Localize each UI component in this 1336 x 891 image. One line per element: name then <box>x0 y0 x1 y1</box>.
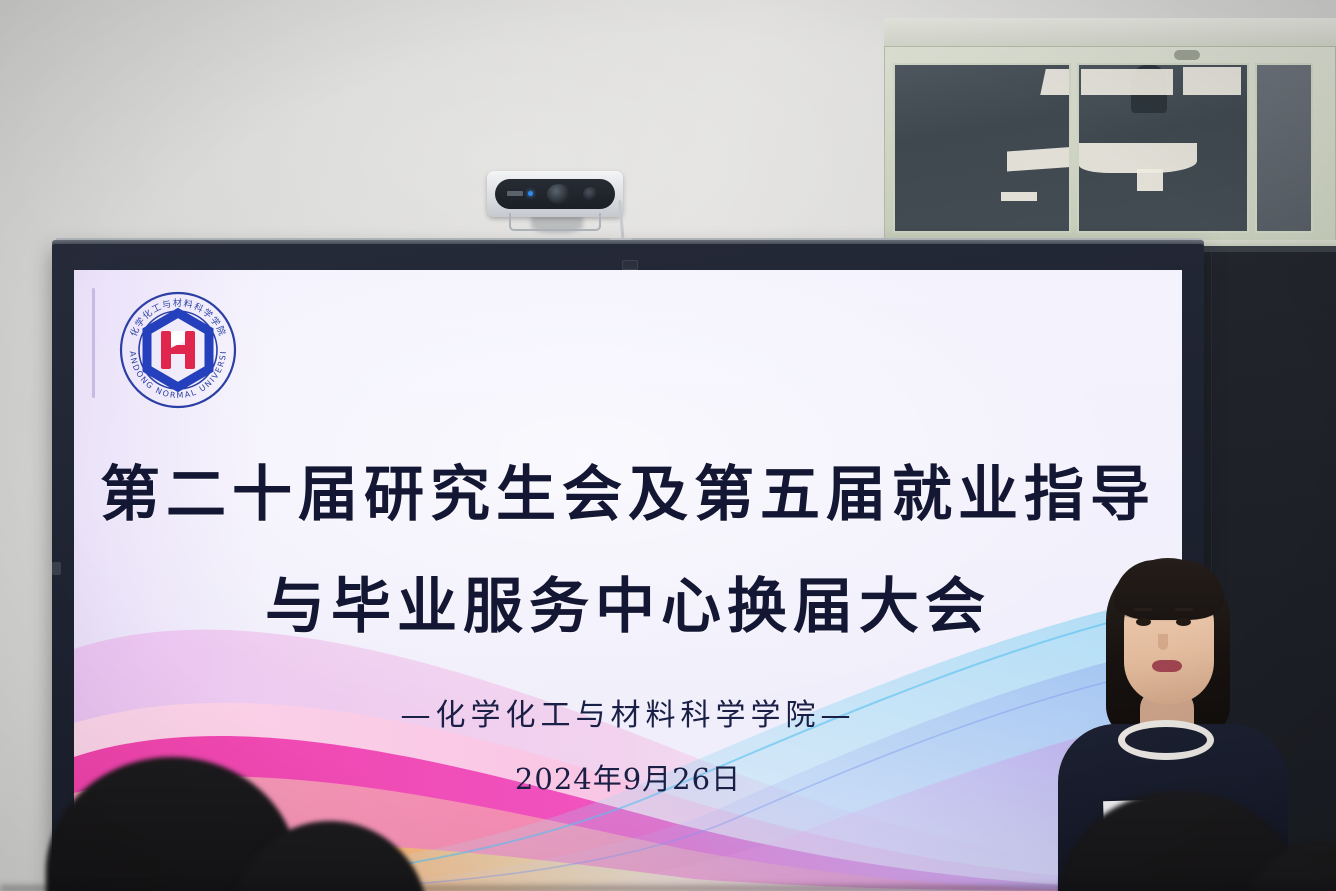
ir-receiver-icon <box>622 260 638 270</box>
camera-face-panel <box>495 179 615 209</box>
presenter-bangs-shadow <box>1116 596 1220 622</box>
camera-status-led-icon <box>528 191 533 196</box>
power-button[interactable] <box>52 562 61 575</box>
photograph-scene: 化学化工与材料科学学院 SHANDONG NORMAL UNIVERSITY 第… <box>0 0 1336 891</box>
window-reflection <box>1081 69 1173 95</box>
window-pane-left <box>893 63 1071 233</box>
window-reflection <box>1007 147 1071 172</box>
window-reflection <box>1183 67 1241 95</box>
presenter-eyebrow <box>1175 608 1193 611</box>
camera-lens-icon <box>547 184 571 204</box>
window-hinge <box>1174 50 1200 60</box>
slide-title-line-2: 与毕业服务中心换届大会 <box>74 572 1182 642</box>
video-conference-camera-bar[interactable] <box>487 171 623 217</box>
slide-title-line-1: 第二十届研究生会及第五届就业指导 <box>74 460 1182 530</box>
presenter-nose <box>1158 634 1168 650</box>
window-pane-right <box>1255 63 1313 233</box>
foreground-shadow-strip <box>0 883 1336 891</box>
classroom-window <box>884 18 1336 253</box>
window-pane-middle <box>1077 63 1249 233</box>
camera-mount-bracket <box>509 213 601 231</box>
window-frame <box>884 46 1336 242</box>
presenter-eye <box>1176 618 1191 626</box>
presenter-eye <box>1136 618 1151 626</box>
presenter-eyebrow <box>1134 608 1152 611</box>
window-lintel <box>884 18 1336 48</box>
camera-brand-label <box>507 191 523 196</box>
window-reflection <box>1001 192 1037 201</box>
audience-foreground <box>0 651 1336 891</box>
window-reflection <box>1137 169 1163 191</box>
camera-secondary-lens-icon <box>583 187 598 201</box>
window-reflection <box>1040 69 1071 95</box>
